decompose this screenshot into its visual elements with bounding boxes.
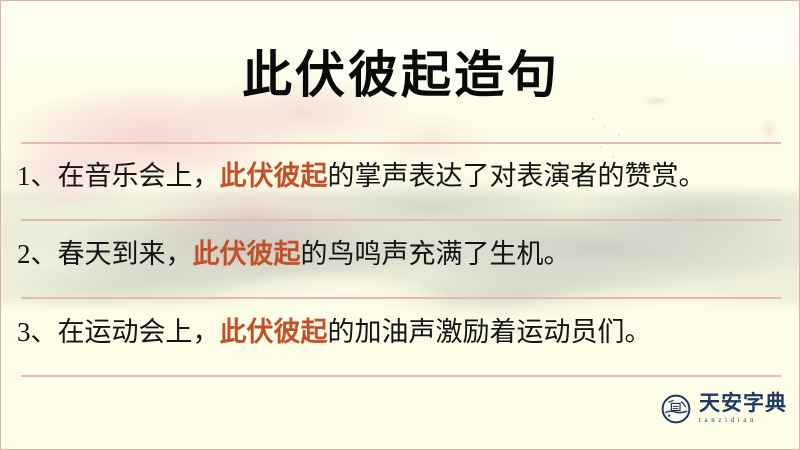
- sentence-index-1: 1、: [17, 161, 58, 191]
- sentence-row-1: 1、在音乐会上，此伏彼起的掌声表达了对表演者的赞赏。: [17, 159, 789, 193]
- brand-logo-text: 天安字典 tanzidian: [699, 393, 787, 424]
- divider-top: [21, 142, 781, 144]
- idiom-highlight-3: 此伏彼起: [220, 317, 328, 347]
- brand-name: 天安字典: [699, 393, 787, 414]
- sentence-row-3: 3、在运动会上，此伏彼起的加油声激励着运动员们。: [17, 315, 789, 349]
- brand-pinyin: tanzidian: [699, 417, 757, 424]
- idiom-highlight-2: 此伏彼起: [193, 239, 301, 269]
- sentence-before-2: 春天到来，: [58, 239, 193, 269]
- sentence-before-3: 在运动会上，: [58, 317, 220, 347]
- sentence-row-2: 2、春天到来，此伏彼起的鸟鸣声充满了生机。: [17, 237, 789, 271]
- card-content: 此伏彼起造句 1、在音乐会上，此伏彼起的掌声表达了对表演者的赞赏。 2、春天到来…: [1, 1, 800, 450]
- sentence-before-1: 在音乐会上，: [58, 161, 220, 191]
- divider-between-2-3: [21, 297, 781, 299]
- brand-logo: 天安字典 tanzidian: [661, 393, 787, 424]
- sentence-index-2: 2、: [17, 239, 58, 269]
- circular-seal-icon: [661, 394, 691, 424]
- sentence-after-3: 的加油声激励着运动员们。: [328, 317, 652, 347]
- idiom-example-card: 此伏彼起造句 1、在音乐会上，此伏彼起的掌声表达了对表演者的赞赏。 2、春天到来…: [0, 0, 800, 450]
- idiom-highlight-1: 此伏彼起: [220, 161, 328, 191]
- page-title: 此伏彼起造句: [1, 45, 800, 105]
- sentence-after-2: 的鸟鸣声充满了生机。: [301, 239, 571, 269]
- sentence-index-3: 3、: [17, 317, 58, 347]
- sentence-after-1: 的掌声表达了对表演者的赞赏。: [328, 161, 706, 191]
- divider-between-1-2: [21, 219, 781, 221]
- divider-bottom: [21, 375, 781, 377]
